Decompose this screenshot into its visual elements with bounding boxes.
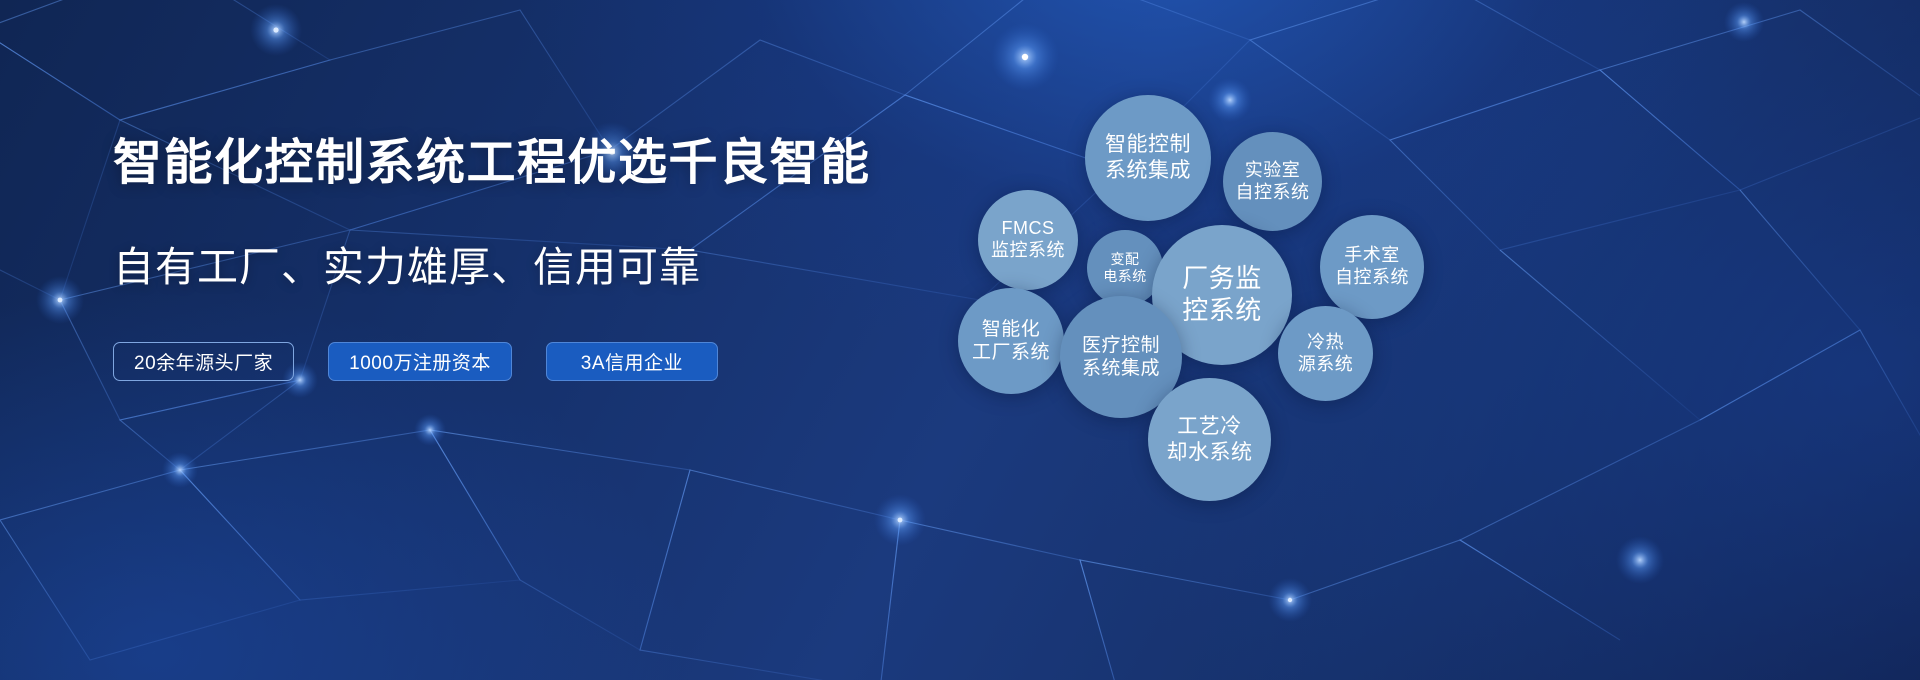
service-bubble-label-line: 工厂系统 [972, 341, 1050, 364]
badge-list: 20余年源头厂家1000万注册资本3A信用企业 [113, 342, 933, 381]
service-bubble-label-line: FMCS [1002, 218, 1055, 240]
service-bubble-label-line: 智能化 [982, 318, 1041, 341]
service-bubble[interactable]: 冷热源系统 [1278, 306, 1373, 401]
service-bubble-label-line: 智能控制 [1105, 132, 1191, 158]
service-bubble-label-line: 冷热 [1307, 332, 1344, 354]
service-bubble[interactable]: 智能化工厂系统 [958, 288, 1064, 394]
hero-copy-block: 智能化控制系统工程优选千良智能 自有工厂、实力雄厚、信用可靠 20余年源头厂家1… [113, 136, 933, 381]
hero-subtitle: 自有工厂、实力雄厚、信用可靠 [113, 243, 933, 292]
service-bubble[interactable]: FMCS监控系统 [978, 190, 1078, 290]
service-bubble-label-line: 自控系统 [1335, 267, 1409, 289]
service-bubble-label-line: 系统集成 [1082, 357, 1160, 380]
service-bubble[interactable]: 工艺冷却水系统 [1148, 378, 1271, 501]
service-bubble[interactable]: 实验室自控系统 [1223, 132, 1322, 231]
service-bubble-label-line: 源系统 [1298, 354, 1354, 376]
service-bubble-label-line: 实验室 [1245, 160, 1301, 182]
service-bubble-label-line: 却水系统 [1167, 440, 1253, 466]
badge-3[interactable]: 3A信用企业 [546, 342, 718, 381]
service-bubble-label-line: 手术室 [1344, 245, 1400, 267]
service-bubble-label-line: 工艺冷 [1177, 414, 1242, 440]
service-bubble-label-line: 电系统 [1103, 268, 1147, 285]
service-bubble[interactable]: 手术室自控系统 [1320, 215, 1424, 319]
service-bubble-label-line: 系统集成 [1105, 158, 1191, 184]
hero-banner: 智能化控制系统工程优选千良智能 自有工厂、实力雄厚、信用可靠 20余年源头厂家1… [0, 0, 1920, 680]
service-bubble-label-line: 自控系统 [1236, 182, 1310, 204]
badge-2[interactable]: 1000万注册资本 [328, 342, 512, 381]
badge-1[interactable]: 20余年源头厂家 [113, 342, 294, 381]
page-title: 智能化控制系统工程优选千良智能 [113, 136, 933, 191]
service-bubble-cluster: 智能控制系统集成实验室自控系统手术室自控系统FMCS监控系统变配电系统厂务监控系… [930, 40, 1710, 560]
service-bubble-label-line: 监控系统 [991, 240, 1065, 262]
service-bubble-label-line: 厂务监 [1182, 263, 1262, 295]
service-bubble-label-line: 控系统 [1182, 295, 1262, 327]
service-bubble[interactable]: 智能控制系统集成 [1085, 95, 1211, 221]
service-bubble-label-line: 变配 [1111, 251, 1140, 268]
service-bubble-label-line: 医疗控制 [1082, 334, 1160, 357]
